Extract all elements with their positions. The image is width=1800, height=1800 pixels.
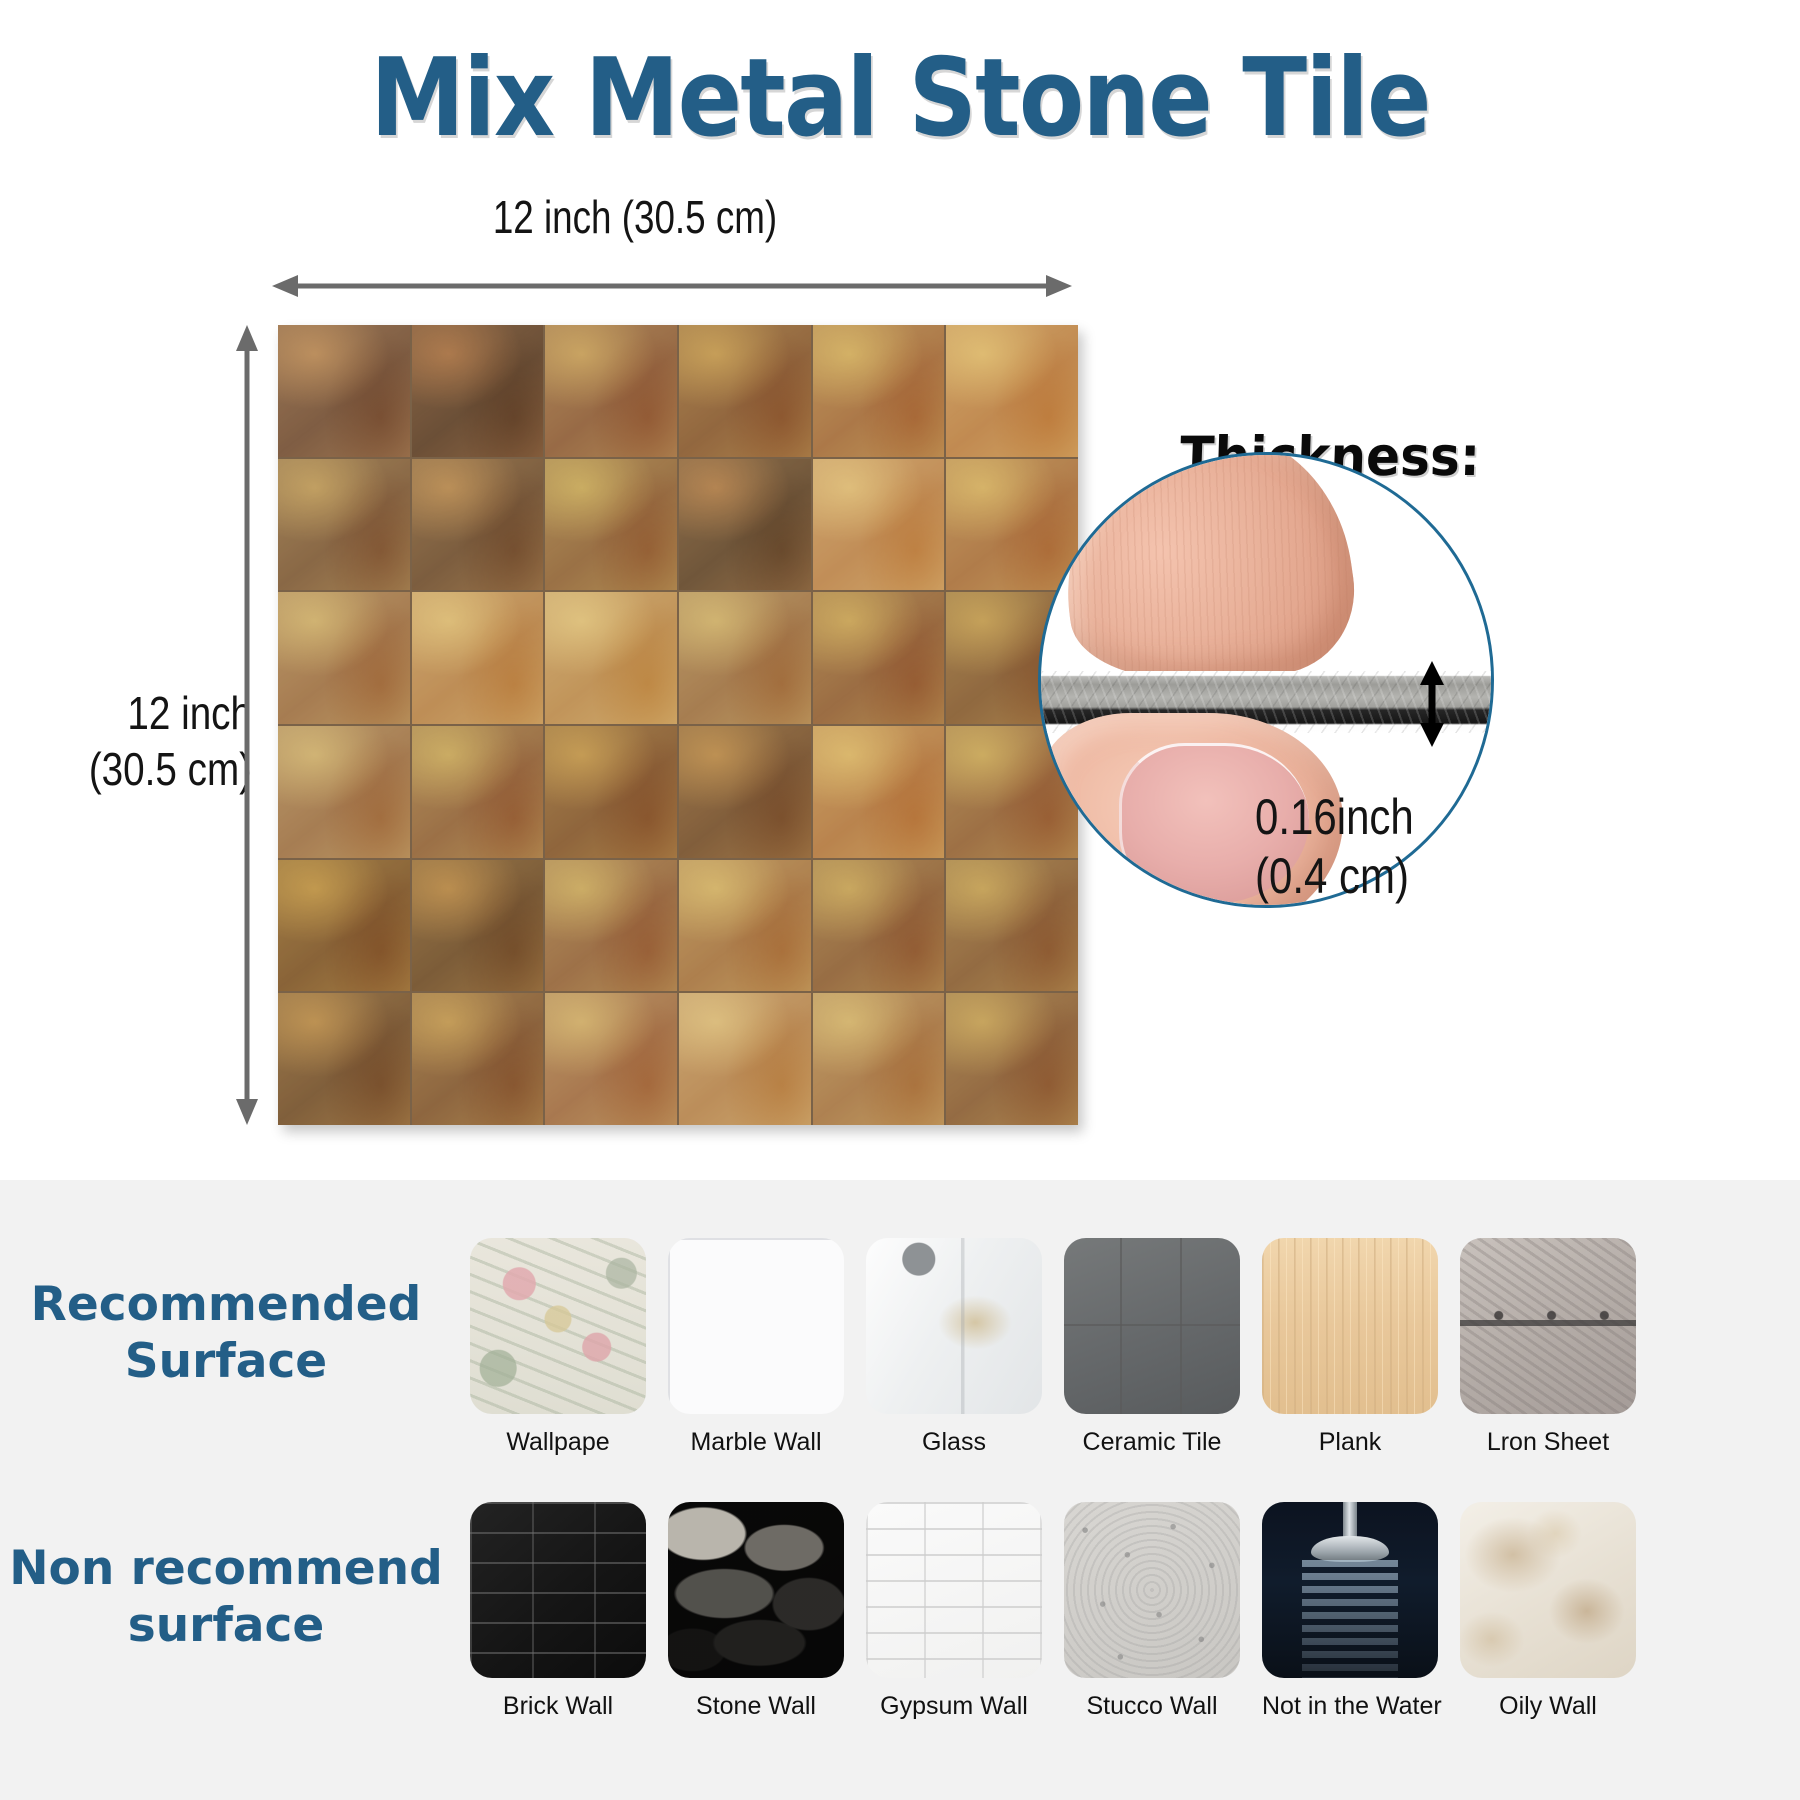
surface-caption: Plank <box>1262 1428 1438 1457</box>
surface-item-stucco-wall[interactable]: Stucco Wall <box>1064 1502 1240 1721</box>
shower-pipe-shape <box>1343 1502 1357 1540</box>
stone-wall-swatch <box>668 1502 844 1678</box>
oily-wall-swatch <box>1460 1502 1636 1678</box>
width-dimension-arrow-icon <box>272 275 1072 297</box>
water-stream-shape <box>1302 1560 1398 1678</box>
product-overview-panel: Mix Metal Stone Tile 12 inch (30.5 cm) 1… <box>0 0 1800 1180</box>
wallpaper-swatch <box>470 1238 646 1414</box>
surface-item-ceramic-tile[interactable]: Ceramic Tile <box>1064 1238 1240 1457</box>
non-recommended-swatch-strip: Brick Wall Stone Wall Gypsum Wall Stucco… <box>470 1502 1636 1721</box>
tile-square <box>813 592 945 724</box>
brick-wall-swatch <box>470 1502 646 1678</box>
non-recommended-surface-title-line2: surface <box>0 1597 452 1654</box>
tile-product-image <box>278 325 1078 1125</box>
tile-square <box>412 726 544 858</box>
tile-square <box>278 459 410 591</box>
surface-item-lron-sheet[interactable]: Lron Sheet <box>1460 1238 1636 1457</box>
width-dimension-label: 12 inch (30.5 cm) <box>311 190 959 244</box>
ceramic-tile-swatch <box>1064 1238 1240 1414</box>
shower-head-icon <box>1311 1536 1389 1562</box>
tile-square <box>412 860 544 992</box>
page-title: Mix Metal Stone Tile <box>108 42 1692 155</box>
surface-item-plank[interactable]: Plank <box>1262 1238 1438 1457</box>
tile-square <box>679 325 811 457</box>
iron-sheet-swatch <box>1460 1238 1636 1414</box>
recommended-surface-row: Recommended Surface Wallpape Marble Wall… <box>0 1238 1800 1488</box>
tile-square <box>278 592 410 724</box>
surface-caption: Gypsum Wall <box>866 1692 1042 1721</box>
tile-square <box>545 592 677 724</box>
thickness-value-line2: (0.4 cm) <box>1255 847 1541 906</box>
surface-item-not-in-the-water[interactable]: Not in the Water <box>1262 1502 1438 1721</box>
surface-caption: Stone Wall <box>668 1692 844 1721</box>
tile-square <box>545 993 677 1125</box>
recommended-surface-title: Recommended Surface <box>0 1276 470 1391</box>
shower-water-swatch <box>1262 1502 1438 1678</box>
surface-caption: Oily Wall <box>1460 1692 1636 1721</box>
tile-square <box>412 459 544 591</box>
tile-square <box>813 325 945 457</box>
tile-square <box>545 325 677 457</box>
height-dimension-arrow-icon <box>236 325 258 1125</box>
tile-square <box>278 325 410 457</box>
tile-square <box>946 459 1078 591</box>
non-recommended-surface-title-line1: Non recommend <box>0 1540 452 1597</box>
surface-caption: Not in the Water <box>1262 1692 1438 1721</box>
non-recommended-surface-row: Non recommend surface Brick Wall Stone W… <box>0 1502 1800 1752</box>
surface-compatibility-panel: Recommended Surface Wallpape Marble Wall… <box>0 1180 1800 1800</box>
tile-square <box>679 726 811 858</box>
recommended-swatch-strip: Wallpape Marble Wall Glass Ceramic Tile … <box>470 1238 1636 1457</box>
surface-item-brick-wall[interactable]: Brick Wall <box>470 1502 646 1721</box>
thickness-value-line1: 0.16inch <box>1255 788 1541 847</box>
tile-square <box>813 726 945 858</box>
tile-square <box>679 860 811 992</box>
glass-swatch <box>866 1238 1042 1414</box>
tile-square <box>545 726 677 858</box>
stucco-wall-swatch <box>1064 1502 1240 1678</box>
surface-caption: Ceramic Tile <box>1064 1428 1240 1457</box>
tile-square <box>813 459 945 591</box>
surface-caption: Stucco Wall <box>1064 1692 1240 1721</box>
surface-item-marble-wall[interactable]: Marble Wall <box>668 1238 844 1457</box>
surface-item-glass[interactable]: Glass <box>866 1238 1042 1457</box>
tile-square <box>278 860 410 992</box>
surface-caption: Brick Wall <box>470 1692 646 1721</box>
height-dimension-label-line2: (30.5 cm) <box>40 741 252 797</box>
height-dimension-label-line1: 12 inch <box>40 685 252 741</box>
recommended-surface-title-line2: Surface <box>0 1333 452 1390</box>
tile-square <box>946 993 1078 1125</box>
gypsum-wall-swatch <box>866 1502 1042 1678</box>
tile-square <box>679 993 811 1125</box>
tile-square <box>679 459 811 591</box>
tile-square <box>545 459 677 591</box>
non-recommended-surface-title: Non recommend surface <box>0 1540 470 1655</box>
tile-square <box>412 993 544 1125</box>
surface-caption: Lron Sheet <box>1460 1428 1636 1457</box>
thickness-value-label: 0.16inch (0.4 cm) <box>1255 788 1541 906</box>
surface-caption: Wallpape <box>470 1428 646 1457</box>
tile-square <box>278 726 410 858</box>
surface-item-stone-wall[interactable]: Stone Wall <box>668 1502 844 1721</box>
tile-square <box>278 993 410 1125</box>
tile-square <box>412 325 544 457</box>
tile-square <box>412 592 544 724</box>
surface-item-wallpape[interactable]: Wallpape <box>470 1238 646 1457</box>
height-dimension-label: 12 inch (30.5 cm) <box>40 685 252 797</box>
surface-caption: Marble Wall <box>668 1428 844 1457</box>
tile-square <box>813 860 945 992</box>
finger-top-texture <box>1047 452 1365 702</box>
surface-item-gypsum-wall[interactable]: Gypsum Wall <box>866 1502 1042 1721</box>
tile-square <box>679 592 811 724</box>
recommended-surface-title-line1: Recommended <box>0 1276 452 1333</box>
surface-caption: Glass <box>866 1428 1042 1457</box>
surface-item-oily-wall[interactable]: Oily Wall <box>1460 1502 1636 1721</box>
tile-square <box>946 325 1078 457</box>
tile-square <box>545 860 677 992</box>
thickness-measure-arrow-icon <box>1419 661 1445 747</box>
marble-wall-swatch <box>668 1238 844 1414</box>
tile-square <box>813 993 945 1125</box>
plank-swatch <box>1262 1238 1438 1414</box>
